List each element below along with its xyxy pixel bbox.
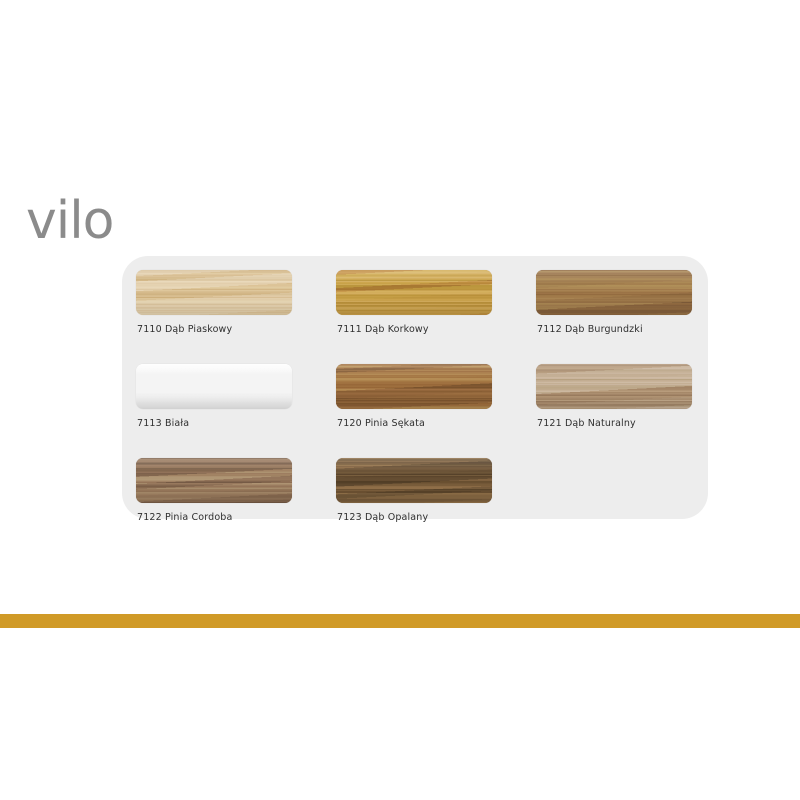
gloss-overlay: [336, 270, 492, 315]
swatch-item-7123[interactable]: 7123 Dąb Opalany: [336, 458, 536, 552]
swatch-label-7120: 7120 Pinia Sękata: [337, 418, 425, 429]
swatch-chip-7111[interactable]: [336, 270, 492, 315]
colour-swatch-card: 7110 Dąb Piaskowy 7111 Dąb Korkowy 7112 …: [122, 256, 708, 519]
swatch-item-7112[interactable]: 7112 Dąb Burgundzki: [536, 270, 736, 364]
swatch-label-7123: 7123 Dąb Opalany: [337, 512, 428, 523]
swatch-label-7112: 7112 Dąb Burgundzki: [537, 324, 643, 335]
gloss-overlay: [536, 270, 692, 315]
swatch-label-7121: 7121 Dąb Naturalny: [537, 418, 636, 429]
swatch-label-7122: 7122 Pinia Cordoba: [137, 512, 232, 523]
swatch-chip-7123[interactable]: [336, 458, 492, 503]
gloss-overlay: [536, 364, 692, 409]
swatch-chip-7122[interactable]: [136, 458, 292, 503]
swatch-chip-7110[interactable]: [136, 270, 292, 315]
swatch-item-7120[interactable]: 7120 Pinia Sękata: [336, 364, 536, 458]
gloss-overlay: [136, 270, 292, 315]
swatch-grid: 7110 Dąb Piaskowy 7111 Dąb Korkowy 7112 …: [136, 270, 696, 552]
swatch-chip-7112[interactable]: [536, 270, 692, 315]
swatch-label-7111: 7111 Dąb Korkowy: [337, 324, 429, 335]
swatch-item-7121[interactable]: 7121 Dąb Naturalny: [536, 364, 736, 458]
gloss-overlay: [136, 458, 292, 503]
gloss-overlay: [336, 364, 492, 409]
gold-accent-bar: [0, 614, 800, 628]
vilo-brand-logo: vilo: [26, 196, 156, 252]
swatch-label-7110: 7110 Dąb Piaskowy: [137, 324, 232, 335]
swatch-label-7113: 7113 Biała: [137, 418, 189, 429]
vilo-logo-text: vilo: [26, 196, 113, 251]
gloss-overlay: [336, 458, 492, 503]
swatch-item-7113[interactable]: 7113 Biała: [136, 364, 336, 458]
swatch-item-7110[interactable]: 7110 Dąb Piaskowy: [136, 270, 336, 364]
gloss-overlay: [136, 364, 292, 409]
swatch-chip-7113[interactable]: [136, 364, 292, 409]
swatch-chip-7120[interactable]: [336, 364, 492, 409]
swatch-item-7122[interactable]: 7122 Pinia Cordoba: [136, 458, 336, 552]
swatch-item-7111[interactable]: 7111 Dąb Korkowy: [336, 270, 536, 364]
swatch-chip-7121[interactable]: [536, 364, 692, 409]
